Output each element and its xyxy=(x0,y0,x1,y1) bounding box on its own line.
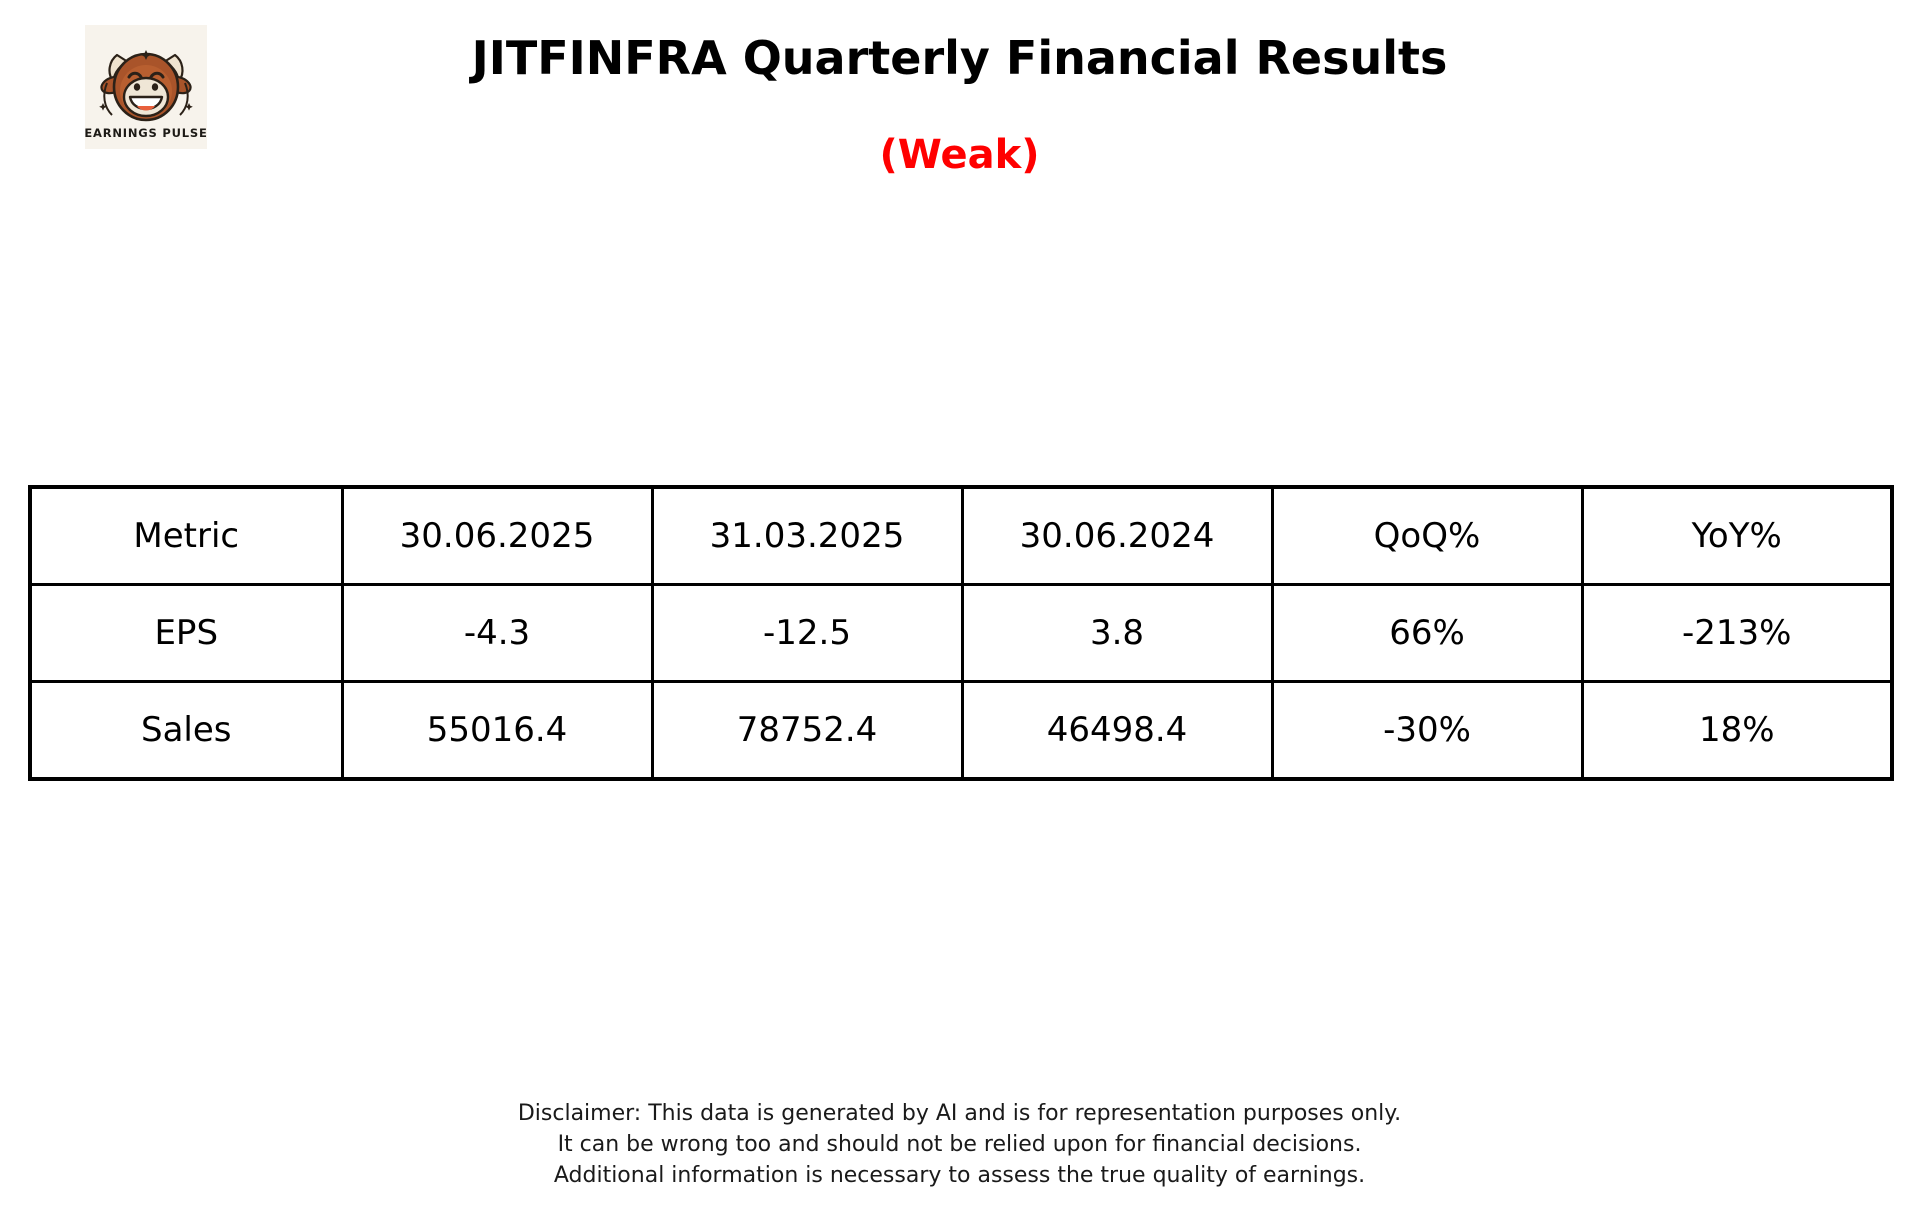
disclaimer-line-3: Additional information is necessary to a… xyxy=(0,1160,1919,1191)
column-header-metric: Metric xyxy=(30,487,342,585)
column-header-period-3: 30.06.2024 xyxy=(962,487,1272,585)
table-header-row: Metric 30.06.2025 31.03.2025 30.06.2024 … xyxy=(30,487,1892,585)
eps-yoy-value: -213% xyxy=(1582,585,1892,682)
disclaimer-line-2: It can be wrong too and should not be re… xyxy=(0,1129,1919,1160)
financial-results-table: Metric 30.06.2025 31.03.2025 30.06.2024 … xyxy=(28,485,1894,781)
column-header-period-2: 31.03.2025 xyxy=(652,487,962,585)
financial-results-table-wrapper: Metric 30.06.2025 31.03.2025 30.06.2024 … xyxy=(28,485,1890,776)
table-row: EPS -4.3 -12.5 3.8 66% -213% xyxy=(30,585,1892,682)
eps-qoq-value: 66% xyxy=(1272,585,1582,682)
disclaimer-line-1: Disclaimer: This data is generated by AI… xyxy=(0,1098,1919,1129)
eps-period-1-value: -4.3 xyxy=(342,585,652,682)
verdict-badge: (Weak) xyxy=(0,128,1919,182)
column-header-period-1: 30.06.2025 xyxy=(342,487,652,585)
sales-period-2-value: 78752.4 xyxy=(652,682,962,780)
column-header-qoq: QoQ% xyxy=(1272,487,1582,585)
row-label-eps: EPS xyxy=(30,585,342,682)
row-label-sales: Sales xyxy=(30,682,342,780)
sales-yoy-value: 18% xyxy=(1582,682,1892,780)
table-row: Sales 55016.4 78752.4 46498.4 -30% 18% xyxy=(30,682,1892,780)
eps-period-3-value: 3.8 xyxy=(962,585,1272,682)
sales-period-3-value: 46498.4 xyxy=(962,682,1272,780)
eps-period-2-value: -12.5 xyxy=(652,585,962,682)
page-title: JITFINFRA Quarterly Financial Results xyxy=(0,28,1919,88)
sales-period-1-value: 55016.4 xyxy=(342,682,652,780)
column-header-yoy: YoY% xyxy=(1582,487,1892,585)
sales-qoq-value: -30% xyxy=(1272,682,1582,780)
disclaimer: Disclaimer: This data is generated by AI… xyxy=(0,1098,1919,1191)
